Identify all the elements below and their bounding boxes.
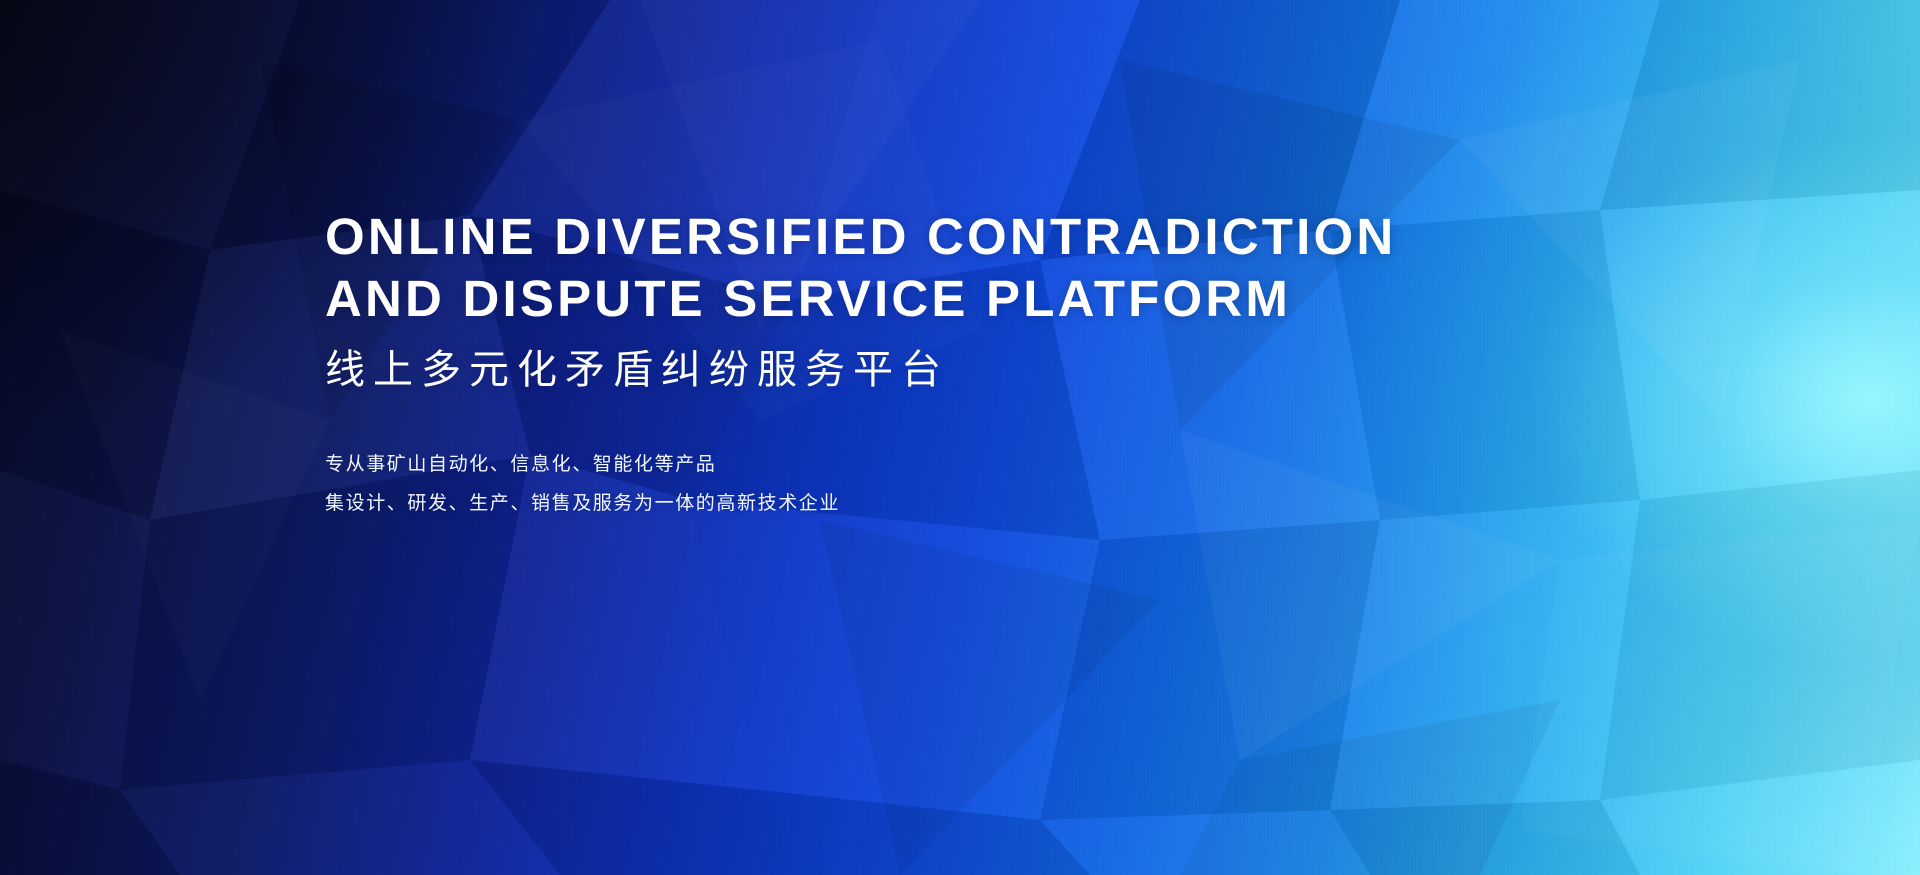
hero-content: ONLINE DIVERSIFIED CONTRADICTION AND DIS… <box>325 206 1645 523</box>
headline-line-2: AND DISPUTE SERVICE PLATFORM <box>325 268 1645 330</box>
tagline-block: 专从事矿山自动化、信息化、智能化等产品 集设计、研发、生产、销售及服务为一体的高… <box>325 445 1645 523</box>
tagline-line-1: 专从事矿山自动化、信息化、智能化等产品 <box>325 445 1645 484</box>
chinese-title: 线上多元化矛盾纠纷服务平台 <box>325 343 1645 397</box>
tagline-line-2: 集设计、研发、生产、销售及服务为一体的高新技术企业 <box>325 484 1645 523</box>
hero-banner: ONLINE DIVERSIFIED CONTRADICTION AND DIS… <box>0 0 1920 875</box>
headline-line-1: ONLINE DIVERSIFIED CONTRADICTION <box>325 206 1645 268</box>
